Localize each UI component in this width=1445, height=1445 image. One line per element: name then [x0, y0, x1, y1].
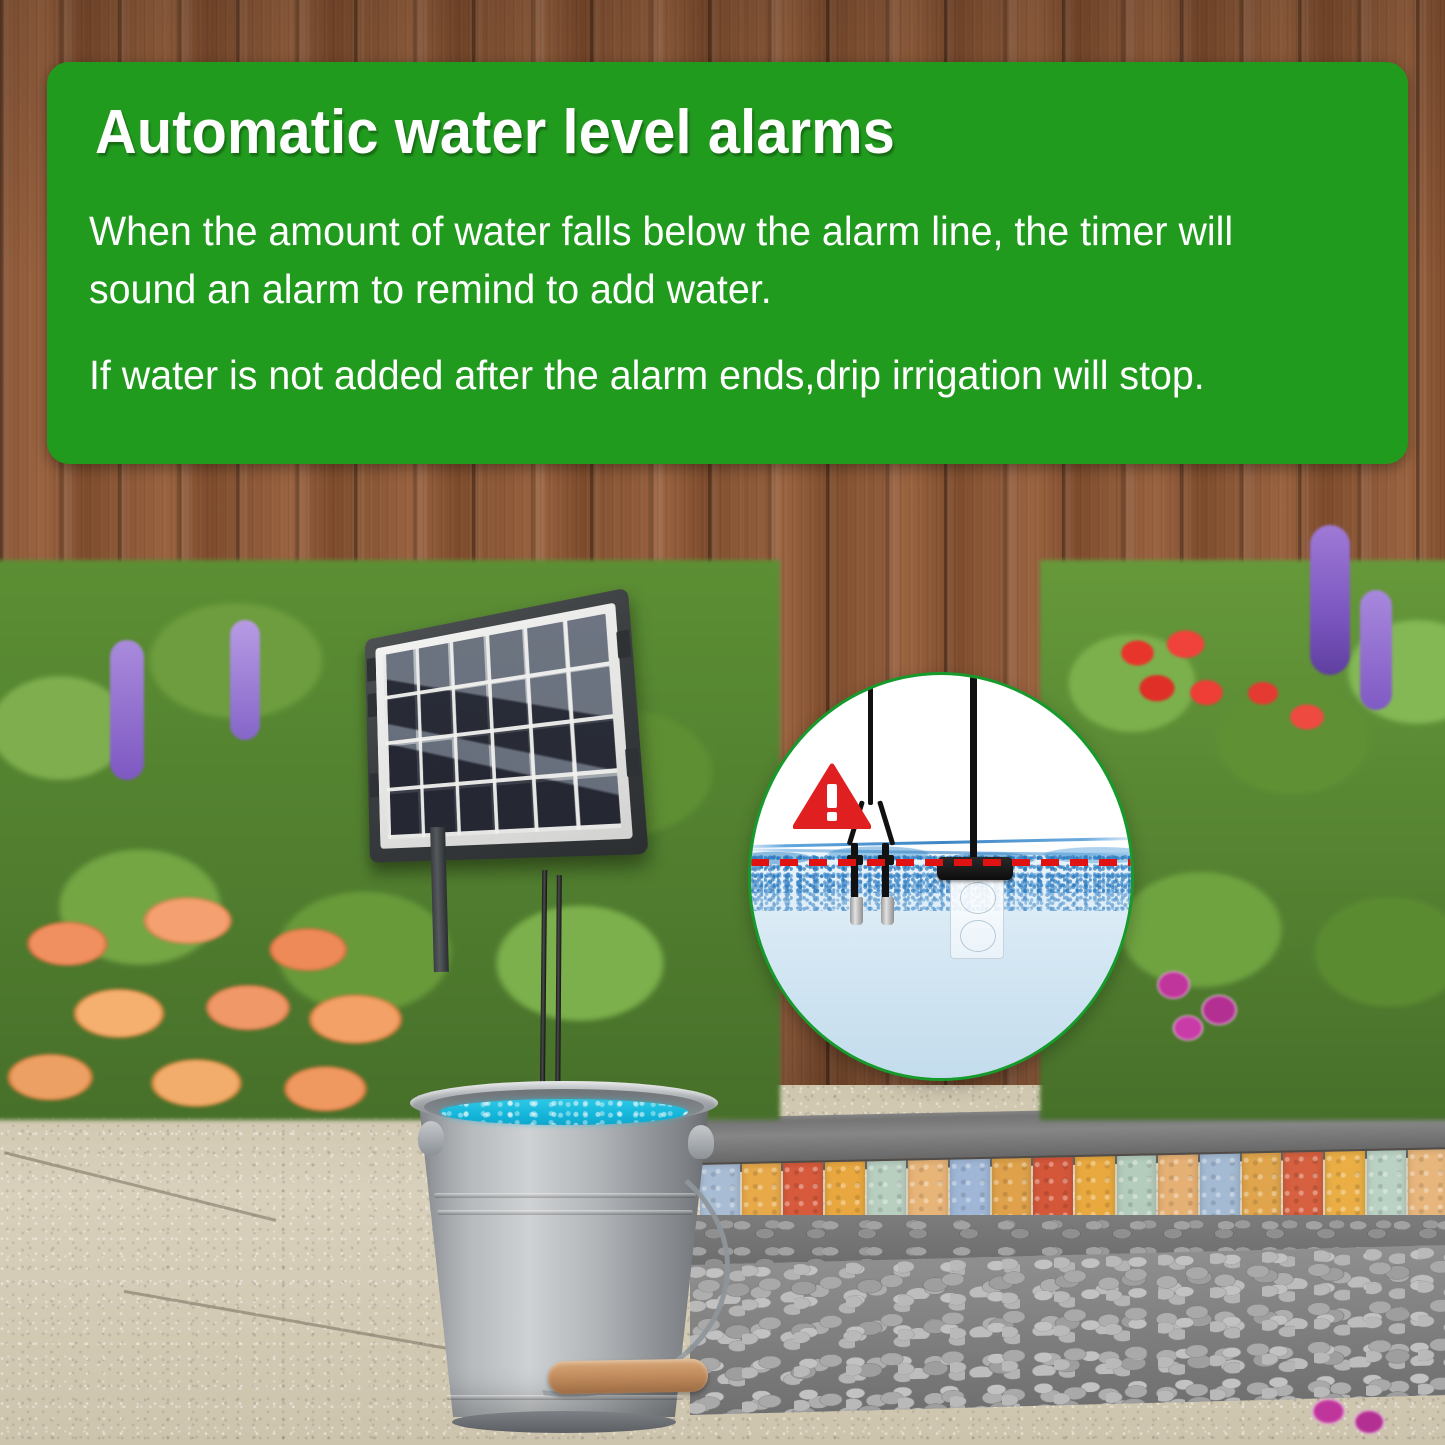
water-level-alarm-detail-inset: [748, 672, 1134, 1081]
feature-banner: Automatic water level alarms When the am…: [47, 62, 1408, 464]
pump-cable: [970, 675, 977, 861]
red-flower-cluster: [1105, 620, 1235, 730]
purple-salvia-spike: [230, 620, 260, 740]
purple-salvia-spike: [1360, 590, 1392, 710]
purple-salvia-spike: [110, 640, 144, 780]
probe-stem: [851, 843, 858, 901]
probe-metal-tip: [850, 897, 863, 925]
orange-coleus-plant: [0, 880, 420, 1170]
product-feature-image: Automatic water level alarms When the am…: [0, 0, 1445, 1445]
panel-mount-clip: [616, 629, 631, 658]
panel-mount-clip: [369, 773, 379, 798]
panel-mount-clip: [368, 693, 378, 718]
solar-panel-frame: [365, 588, 649, 863]
solar-panel-backing: [375, 603, 633, 849]
probe-stem: [882, 843, 889, 901]
magenta-petunia-cluster: [1290, 1380, 1400, 1445]
panel-mount-clip: [367, 657, 376, 682]
bucket-base: [452, 1411, 676, 1433]
solar-cell-separators: [383, 614, 621, 839]
water-ripple-texture: [440, 1099, 688, 1125]
banner-paragraph-2: If water is not added after the alarm en…: [89, 346, 1323, 404]
solar-panel: [340, 612, 670, 892]
magenta-petunia-cluster: [1140, 950, 1260, 1050]
alarm-line: [751, 859, 1131, 866]
paver-tile: [1408, 1149, 1445, 1225]
red-flower-cluster: [1230, 660, 1340, 755]
bucket-water-surface: [440, 1099, 688, 1125]
bucket-wooden-grip: [548, 1359, 709, 1395]
warning-triangle-icon: [793, 763, 871, 829]
pump-intake-filter: [950, 875, 1004, 959]
galvanized-water-bucket: [400, 1065, 730, 1425]
probe-metal-tip: [881, 897, 894, 925]
handle-ear: [688, 1125, 714, 1159]
purple-salvia-spike: [1310, 525, 1350, 675]
handle-ear: [418, 1121, 444, 1155]
banner-paragraph-1: When the amount of water falls below the…: [89, 202, 1323, 318]
banner-body: When the amount of water falls below the…: [89, 202, 1323, 405]
panel-mount-clip: [625, 747, 640, 777]
banner-title: Automatic water level alarms: [95, 97, 895, 168]
